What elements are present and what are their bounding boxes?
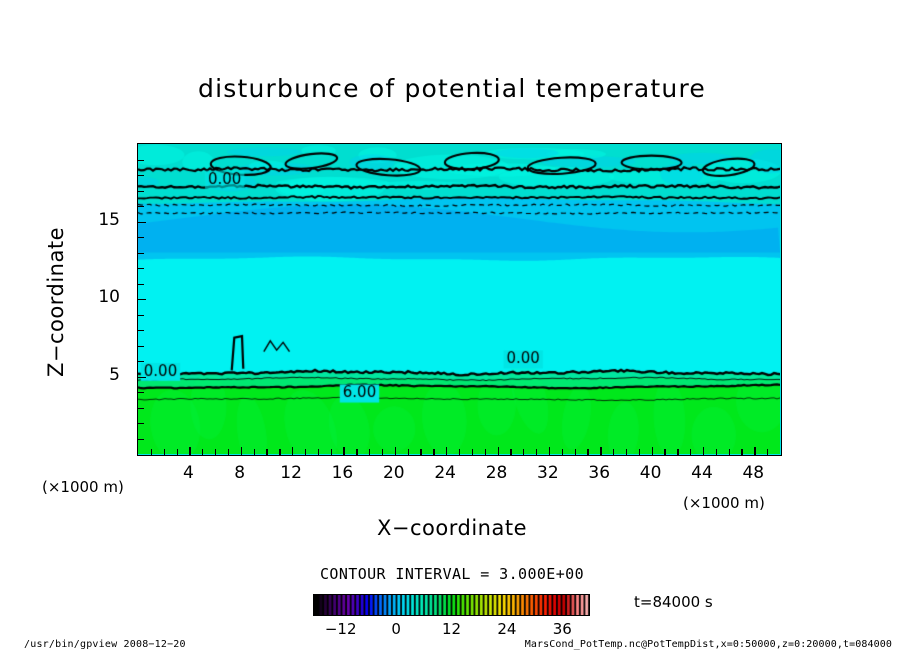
x-axis-tick [485, 449, 486, 456]
y-axis-tick [137, 206, 144, 207]
x-axis-tick [600, 447, 601, 456]
x-axis-tick [741, 449, 742, 456]
x-axis-tick [177, 449, 178, 456]
page-title: disturbunce of potential temperature [0, 74, 904, 103]
x-axis-tick [626, 449, 627, 456]
y-axis-tick [137, 299, 146, 300]
x-axis-tick [151, 449, 152, 456]
time-label: t=84000 s [634, 593, 713, 611]
x-axis-tick [587, 449, 588, 456]
x-axis-tick [215, 449, 216, 456]
colorbar-ticklabel: 12 [427, 620, 477, 638]
x-axis-tick [395, 447, 396, 456]
x-axis-tick [677, 449, 678, 456]
x-axis-tick [343, 447, 344, 456]
y-axis-tick [137, 330, 144, 331]
x-axis-tick [382, 449, 383, 456]
x-axis-tick [408, 449, 409, 456]
colorbar[interactable] [313, 594, 590, 616]
y-axis-tick [137, 237, 144, 238]
x-unit-right-label: (×1000 m) [683, 494, 765, 512]
x-axis-tick [266, 449, 267, 456]
y-axis-ticklabel: 10 [84, 287, 120, 307]
x-axis-tick [729, 449, 730, 456]
footer-dataset: MarsCond_PotTemp.nc@PotTempDist,x=0:5000… [525, 639, 892, 650]
x-axis-tick [318, 449, 319, 456]
y-axis-tick [137, 268, 144, 269]
x-axis-tick [498, 447, 499, 456]
x-axis-tick [703, 447, 704, 456]
y-axis-tick [137, 346, 144, 347]
x-axis-tick [189, 447, 190, 456]
colorbar-gradient [314, 595, 589, 615]
x-axis-tick [459, 449, 460, 456]
x-axis-tick [164, 449, 165, 456]
x-axis-tick [254, 449, 255, 456]
x-axis-tick [536, 449, 537, 456]
x-axis-tick [356, 449, 357, 456]
x-axis-tick [369, 449, 370, 456]
x-axis-tick [639, 449, 640, 456]
y-axis-tick [137, 191, 144, 192]
x-axis-tick [716, 449, 717, 456]
y-axis-ticklabel: 5 [84, 365, 120, 385]
y-axis-title: Z−coordinate [44, 202, 68, 402]
y-axis-tick [137, 315, 144, 316]
x-axis-tick [652, 447, 653, 456]
x-axis-tick [613, 449, 614, 456]
y-axis-tick [137, 222, 146, 223]
y-axis-tick [137, 253, 144, 254]
y-axis-tick [137, 439, 144, 440]
contour-field-canvas [138, 144, 780, 454]
x-axis-tick [523, 449, 524, 456]
colorbar-ticklabel: 36 [537, 620, 587, 638]
y-axis-tick [137, 361, 144, 362]
y-axis-tick [137, 408, 144, 409]
x-axis-tick [754, 447, 755, 456]
contour-plot-area[interactable] [137, 143, 782, 456]
colorbar-ticklabel: −12 [316, 620, 366, 638]
contour-interval-label: CONTOUR INTERVAL = 3.000E+00 [0, 565, 904, 583]
x-axis-tick [562, 449, 563, 456]
x-axis-tick [279, 449, 280, 456]
x-axis-tick [420, 449, 421, 456]
x-axis-tick [664, 449, 665, 456]
x-axis-tick [690, 449, 691, 456]
y-axis-ticklabel: 15 [84, 210, 120, 230]
x-axis-tick [292, 447, 293, 456]
footer-command: /usr/bin/gpview 2008−12−20 [24, 639, 186, 650]
x-axis-tick [446, 447, 447, 456]
x-axis-tick [228, 449, 229, 456]
x-axis-tick [575, 449, 576, 456]
x-axis-tick [433, 449, 434, 456]
y-axis-tick [137, 392, 144, 393]
x-axis-tick [549, 447, 550, 456]
y-axis-tick [137, 377, 146, 378]
y-axis-tick [137, 423, 144, 424]
x-axis-tick [331, 449, 332, 456]
y-axis-tick [137, 284, 144, 285]
x-axis-tick [472, 449, 473, 456]
x-unit-left-label: (×1000 m) [42, 478, 124, 496]
x-axis-tick [767, 449, 768, 456]
x-axis-tick [510, 449, 511, 456]
x-axis-ticklabel: 48 [723, 463, 783, 483]
y-axis-tick [137, 175, 144, 176]
colorbar-ticklabel: 24 [482, 620, 532, 638]
colorbar-ticklabel: 0 [371, 620, 421, 638]
x-axis-title: X−coordinate [0, 516, 904, 540]
y-axis-tick [137, 160, 144, 161]
x-axis-tick [202, 449, 203, 456]
x-axis-tick [241, 447, 242, 456]
x-axis-tick [305, 449, 306, 456]
